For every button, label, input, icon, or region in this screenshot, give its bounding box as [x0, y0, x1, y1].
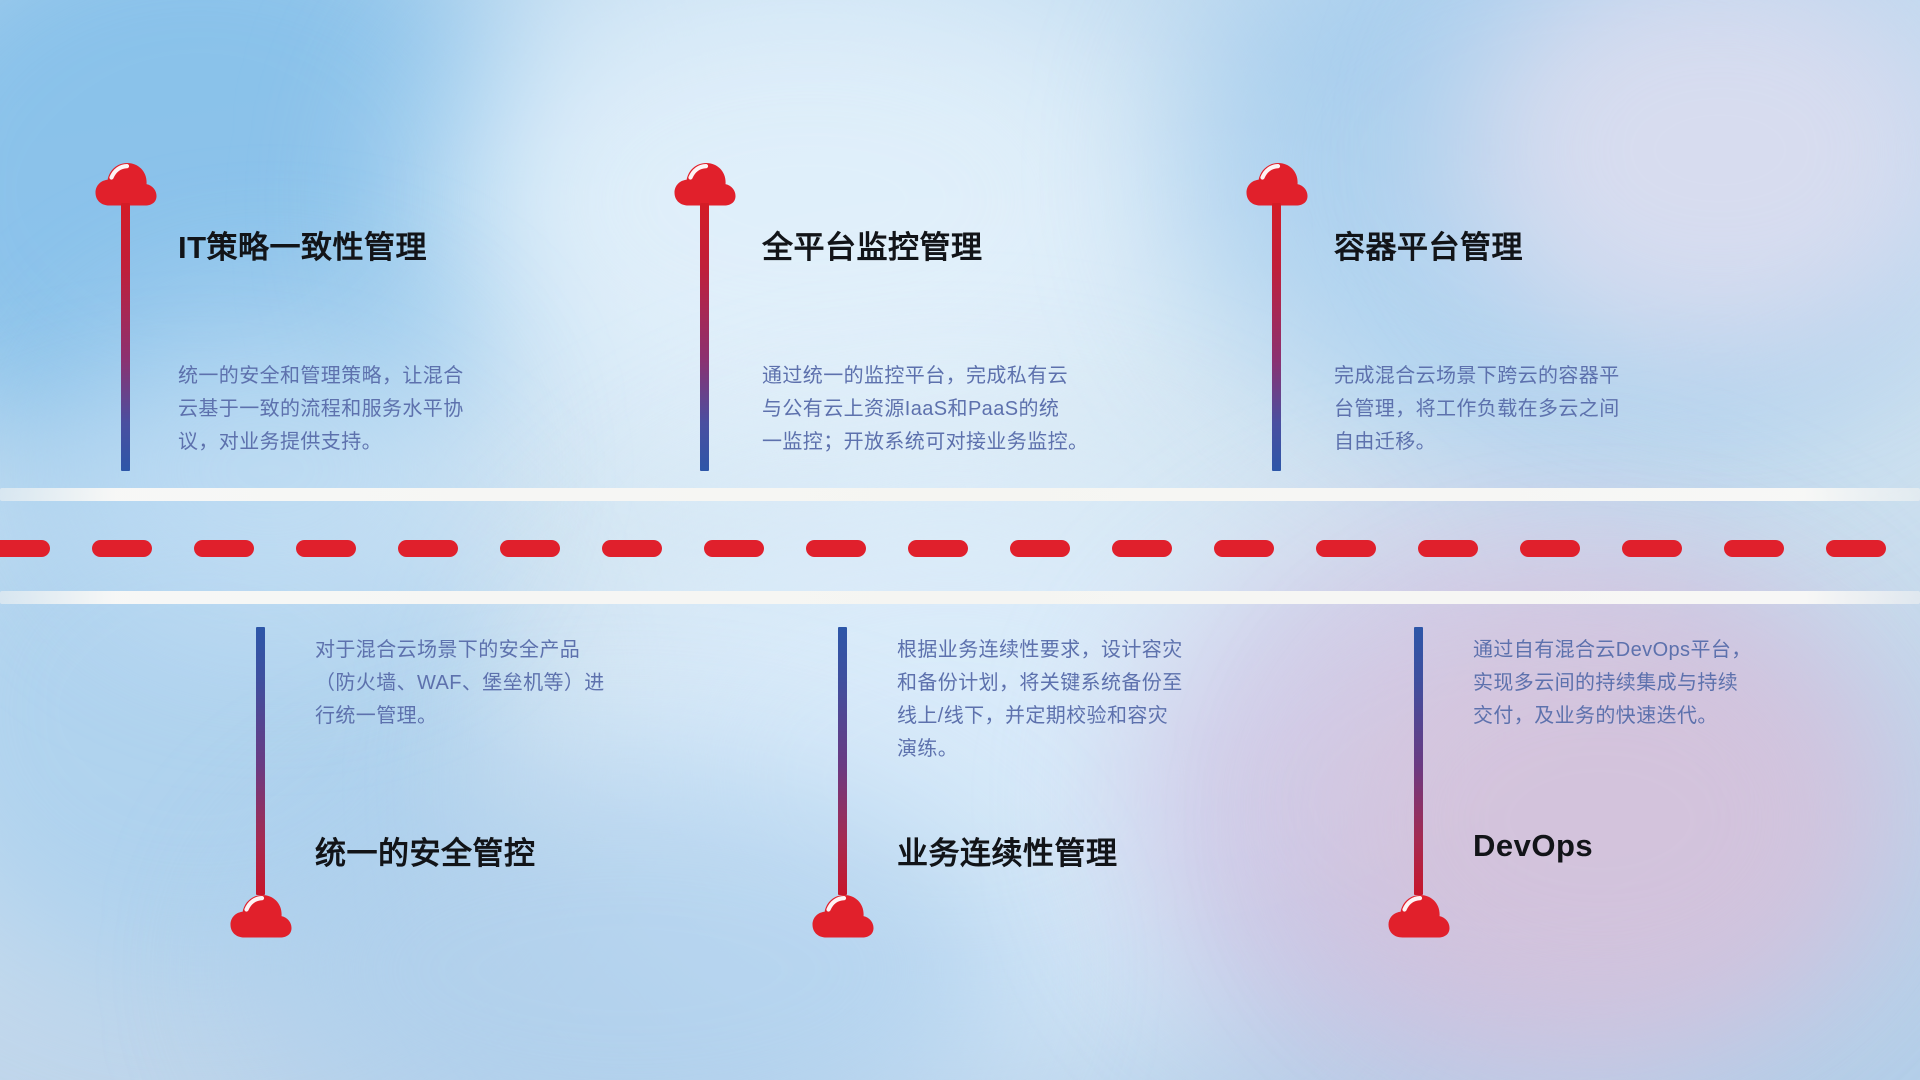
- road-dash-gap: [560, 548, 602, 549]
- road-dash: [1724, 540, 1784, 557]
- road-dash-gap: [1274, 548, 1316, 549]
- body-line: 议，对业务提供支持。: [178, 426, 598, 459]
- road-dash-gap: [866, 548, 908, 549]
- road-dash-gap: [356, 548, 398, 549]
- card-heading: 统一的安全管控: [315, 828, 536, 873]
- road-dash: [1418, 540, 1478, 557]
- body-line: 通过自有混合云DevOps平台，: [1473, 634, 1893, 667]
- body-line: （防火墙、WAF、堡垒机等）进: [315, 667, 735, 700]
- road-dash: [704, 540, 764, 557]
- card-body: 根据业务连续性要求，设计容灾 和备份计划，将关键系统备份至 线上/线下，并定期校…: [897, 634, 1317, 766]
- body-line: 实现多云间的持续集成与持续: [1473, 667, 1893, 700]
- card-body: 完成混合云场景下跨云的容器平 台管理，将工作负载在多云之间 自由迁移。: [1334, 360, 1754, 459]
- road-dash-gap: [152, 548, 194, 549]
- body-line: 和备份计划，将关键系统备份至: [897, 667, 1317, 700]
- road-dash: [194, 540, 254, 557]
- card-body: 通过统一的监控平台，完成私有云 与公有云上资源IaaS和PaaS的统 一监控；开…: [762, 360, 1202, 459]
- road-dash: [0, 540, 50, 557]
- road-dash-gap: [1070, 548, 1112, 549]
- road-dash: [1112, 540, 1172, 557]
- card-heading: DevOps: [1473, 828, 1593, 864]
- road-dash-gap: [254, 548, 296, 549]
- body-line: 与公有云上资源IaaS和PaaS的统: [762, 393, 1202, 426]
- road-dash: [806, 540, 866, 557]
- road-band-top: [0, 488, 1920, 501]
- road-dash-gap: [968, 548, 1010, 549]
- stem-line: [1414, 627, 1423, 895]
- body-line: 线上/线下，并定期校验和容灾: [897, 700, 1317, 733]
- road-dash: [1826, 540, 1886, 557]
- body-line: 自由迁移。: [1334, 426, 1754, 459]
- cloud-icon: [674, 160, 736, 206]
- cloud-icon: [230, 892, 292, 938]
- card-heading: 全平台监控管理: [762, 222, 983, 267]
- body-line: 通过统一的监控平台，完成私有云: [762, 360, 1202, 393]
- road-dash-gap: [764, 548, 806, 549]
- road-dash-row: [0, 540, 1910, 557]
- cloud-icon: [95, 160, 157, 206]
- road-dash-gap: [458, 548, 500, 549]
- cloud-icon: [1388, 892, 1450, 938]
- stem-line: [256, 627, 265, 895]
- road-dash-gap: [1682, 548, 1724, 549]
- card-body: 统一的安全和管理策略，让混合 云基于一致的流程和服务水平协 议，对业务提供支持。: [178, 360, 598, 459]
- body-line: 统一的安全和管理策略，让混合: [178, 360, 598, 393]
- road-dash: [92, 540, 152, 557]
- body-line: 云基于一致的流程和服务水平协: [178, 393, 598, 426]
- road-dash-gap: [1580, 548, 1622, 549]
- card-body: 对于混合云场景下的安全产品 （防火墙、WAF、堡垒机等）进 行统一管理。: [315, 634, 735, 733]
- road-dash: [1622, 540, 1682, 557]
- road-dash: [1520, 540, 1580, 557]
- road-dash-gap: [1784, 548, 1826, 549]
- body-line: 根据业务连续性要求，设计容灾: [897, 634, 1317, 667]
- road-dash-gap: [662, 548, 704, 549]
- body-line: 一监控；开放系统可对接业务监控。: [762, 426, 1202, 459]
- road-dash: [1010, 540, 1070, 557]
- stem-line: [838, 627, 847, 895]
- road-dash: [602, 540, 662, 557]
- stem-line: [1272, 203, 1281, 471]
- stem-line: [700, 203, 709, 471]
- body-line: 台管理，将工作负载在多云之间: [1334, 393, 1754, 426]
- card-heading: 业务连续性管理: [897, 828, 1118, 873]
- card-heading: IT策略一致性管理: [178, 222, 427, 267]
- road-dash: [1316, 540, 1376, 557]
- road-dash-gap: [1376, 548, 1418, 549]
- road-band-bottom: [0, 591, 1920, 604]
- road-dash: [500, 540, 560, 557]
- road-dash: [908, 540, 968, 557]
- road-dash: [398, 540, 458, 557]
- infographic-canvas: IT策略一致性管理 统一的安全和管理策略，让混合 云基于一致的流程和服务水平协 …: [0, 0, 1920, 1080]
- body-line: 演练。: [897, 733, 1317, 766]
- body-line: 交付，及业务的快速迭代。: [1473, 700, 1893, 733]
- road-dash-gap: [1172, 548, 1214, 549]
- road-dash: [1214, 540, 1274, 557]
- body-line: 行统一管理。: [315, 700, 735, 733]
- body-line: 完成混合云场景下跨云的容器平: [1334, 360, 1754, 393]
- cloud-icon: [812, 892, 874, 938]
- card-body: 通过自有混合云DevOps平台， 实现多云间的持续集成与持续 交付，及业务的快速…: [1473, 634, 1893, 733]
- road-dash-gap: [1478, 548, 1520, 549]
- card-heading: 容器平台管理: [1334, 222, 1523, 267]
- stem-line: [121, 203, 130, 471]
- body-line: 对于混合云场景下的安全产品: [315, 634, 735, 667]
- road-dash-gap: [50, 548, 92, 549]
- cloud-icon: [1246, 160, 1308, 206]
- road-dash: [296, 540, 356, 557]
